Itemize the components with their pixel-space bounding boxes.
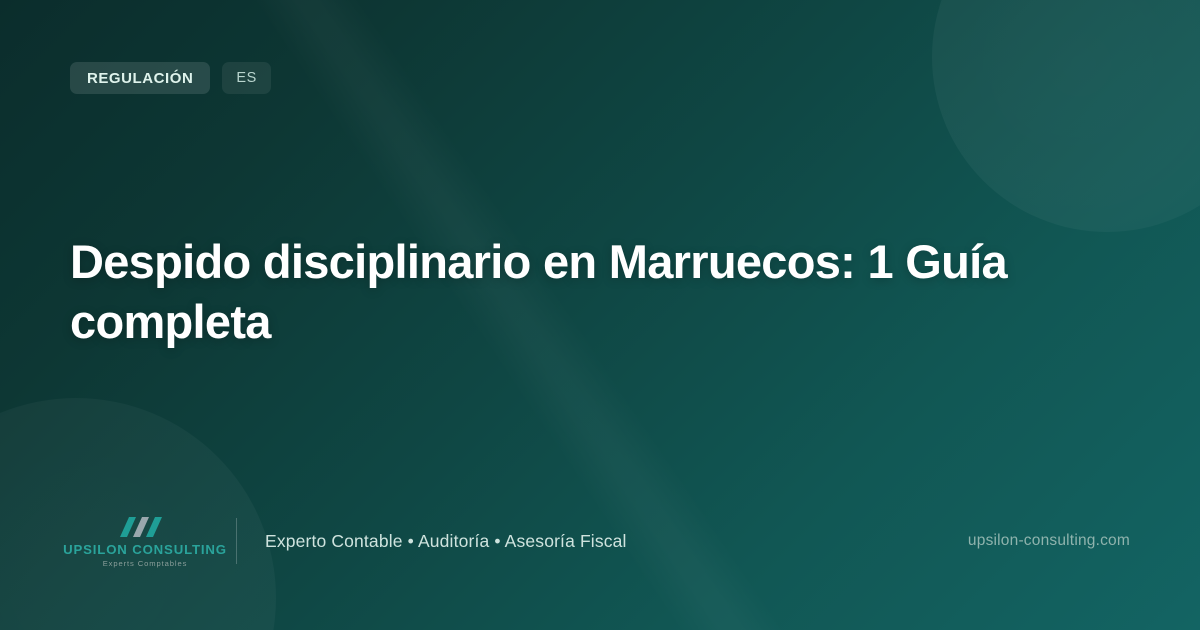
- content-layer: REGULACIÓN ES Despido disciplinario en M…: [0, 0, 1200, 630]
- services-tagline: Experto Contable • Auditoría • Asesoría …: [265, 531, 627, 552]
- footer-bar: UPSILON CONSULTING Experts Comptables Ex…: [70, 510, 1130, 572]
- site-url[interactable]: upsilon-consulting.com: [968, 532, 1130, 550]
- page-title: Despido disciplinario en Marruecos: 1 Gu…: [70, 232, 1100, 352]
- three-diagonal-bars-icon: [117, 515, 173, 539]
- brand-logo[interactable]: UPSILON CONSULTING Experts Comptables: [70, 515, 220, 568]
- category-badge[interactable]: REGULACIÓN: [70, 62, 210, 94]
- logo-wordmark: UPSILON CONSULTING: [63, 542, 227, 557]
- logo-subtitle: Experts Comptables: [103, 559, 188, 568]
- badge-row: REGULACIÓN ES: [70, 62, 1130, 94]
- language-badge[interactable]: ES: [222, 62, 270, 94]
- footer-divider: [236, 518, 237, 564]
